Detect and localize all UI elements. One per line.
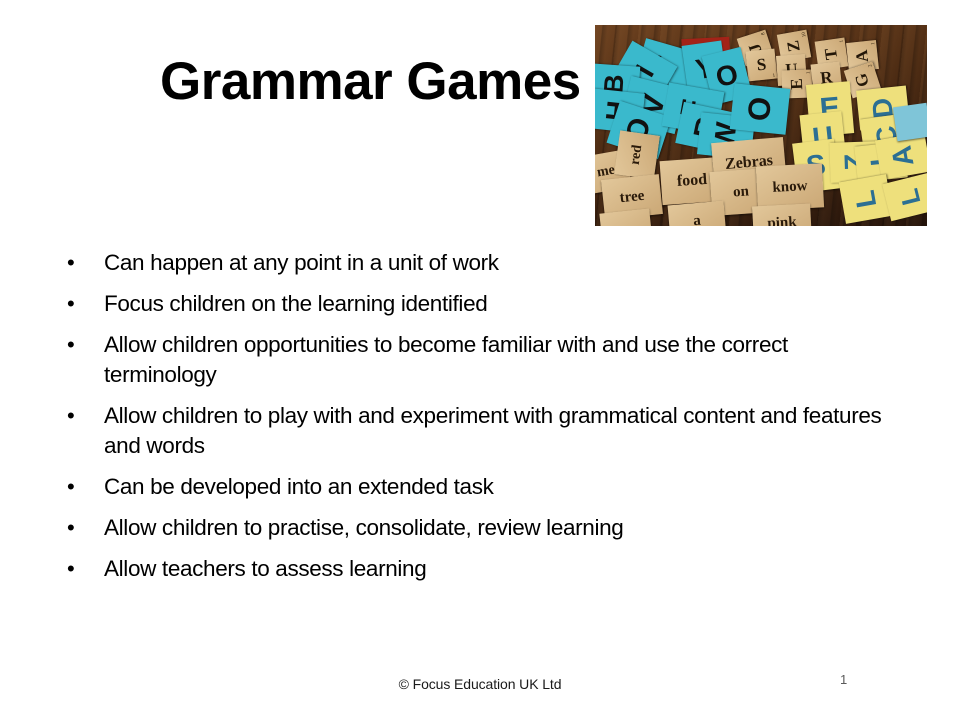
bullet-marker: •: [58, 330, 104, 360]
list-item: • Allow children opportunities to become…: [58, 330, 888, 390]
bullet-text: Can be developed into an extended task: [104, 472, 888, 502]
list-item: • Allow children to practise, consolidat…: [58, 513, 888, 543]
bullet-marker: •: [58, 401, 104, 431]
bullet-text: Allow teachers to assess learning: [104, 554, 888, 584]
list-item: • Focus children on the learning identif…: [58, 289, 888, 319]
list-item: • Can be developed into an extended task: [58, 472, 888, 502]
bullet-marker: •: [58, 289, 104, 319]
word-card-red: red: [614, 130, 660, 179]
page-title: Grammar Games: [160, 52, 581, 111]
bullet-text: Allow children opportunities to become f…: [104, 330, 888, 390]
list-item: • Allow children to play with and experi…: [58, 401, 888, 461]
bullet-marker: •: [58, 513, 104, 543]
bullet-list: • Can happen at any point in a unit of w…: [58, 248, 888, 595]
tile-cyan-O3: O: [730, 83, 791, 135]
bullet-text: Can happen at any point in a unit of wor…: [104, 248, 888, 278]
word-card-a: a: [668, 201, 727, 226]
slide: Grammar Games J8 Z10 S1 U1 T1 E1 R1 A1 G…: [0, 0, 960, 720]
list-item: • Can happen at any point in a unit of w…: [58, 248, 888, 278]
letter-tiles-photo: J8 Z10 S1 U1 T1 E1 R1 A1 G2 T I B V H O …: [595, 25, 927, 226]
bullet-marker: •: [58, 472, 104, 502]
list-item: • Allow teachers to assess learning: [58, 554, 888, 584]
bullet-text: Allow children to practise, consolidate,…: [104, 513, 888, 543]
bullet-marker: •: [58, 248, 104, 278]
bullet-text: Allow children to play with and experime…: [104, 401, 888, 461]
bullet-marker: •: [58, 554, 104, 584]
word-card-pink: pink: [752, 204, 812, 226]
footer-copyright: © Focus Education UK Ltd: [0, 676, 960, 692]
tile-cyan-light: [893, 103, 927, 141]
tile-wood-S: S1: [746, 49, 778, 82]
page-number: 1: [840, 672, 847, 687]
bullet-text: Focus children on the learning identifie…: [104, 289, 888, 319]
